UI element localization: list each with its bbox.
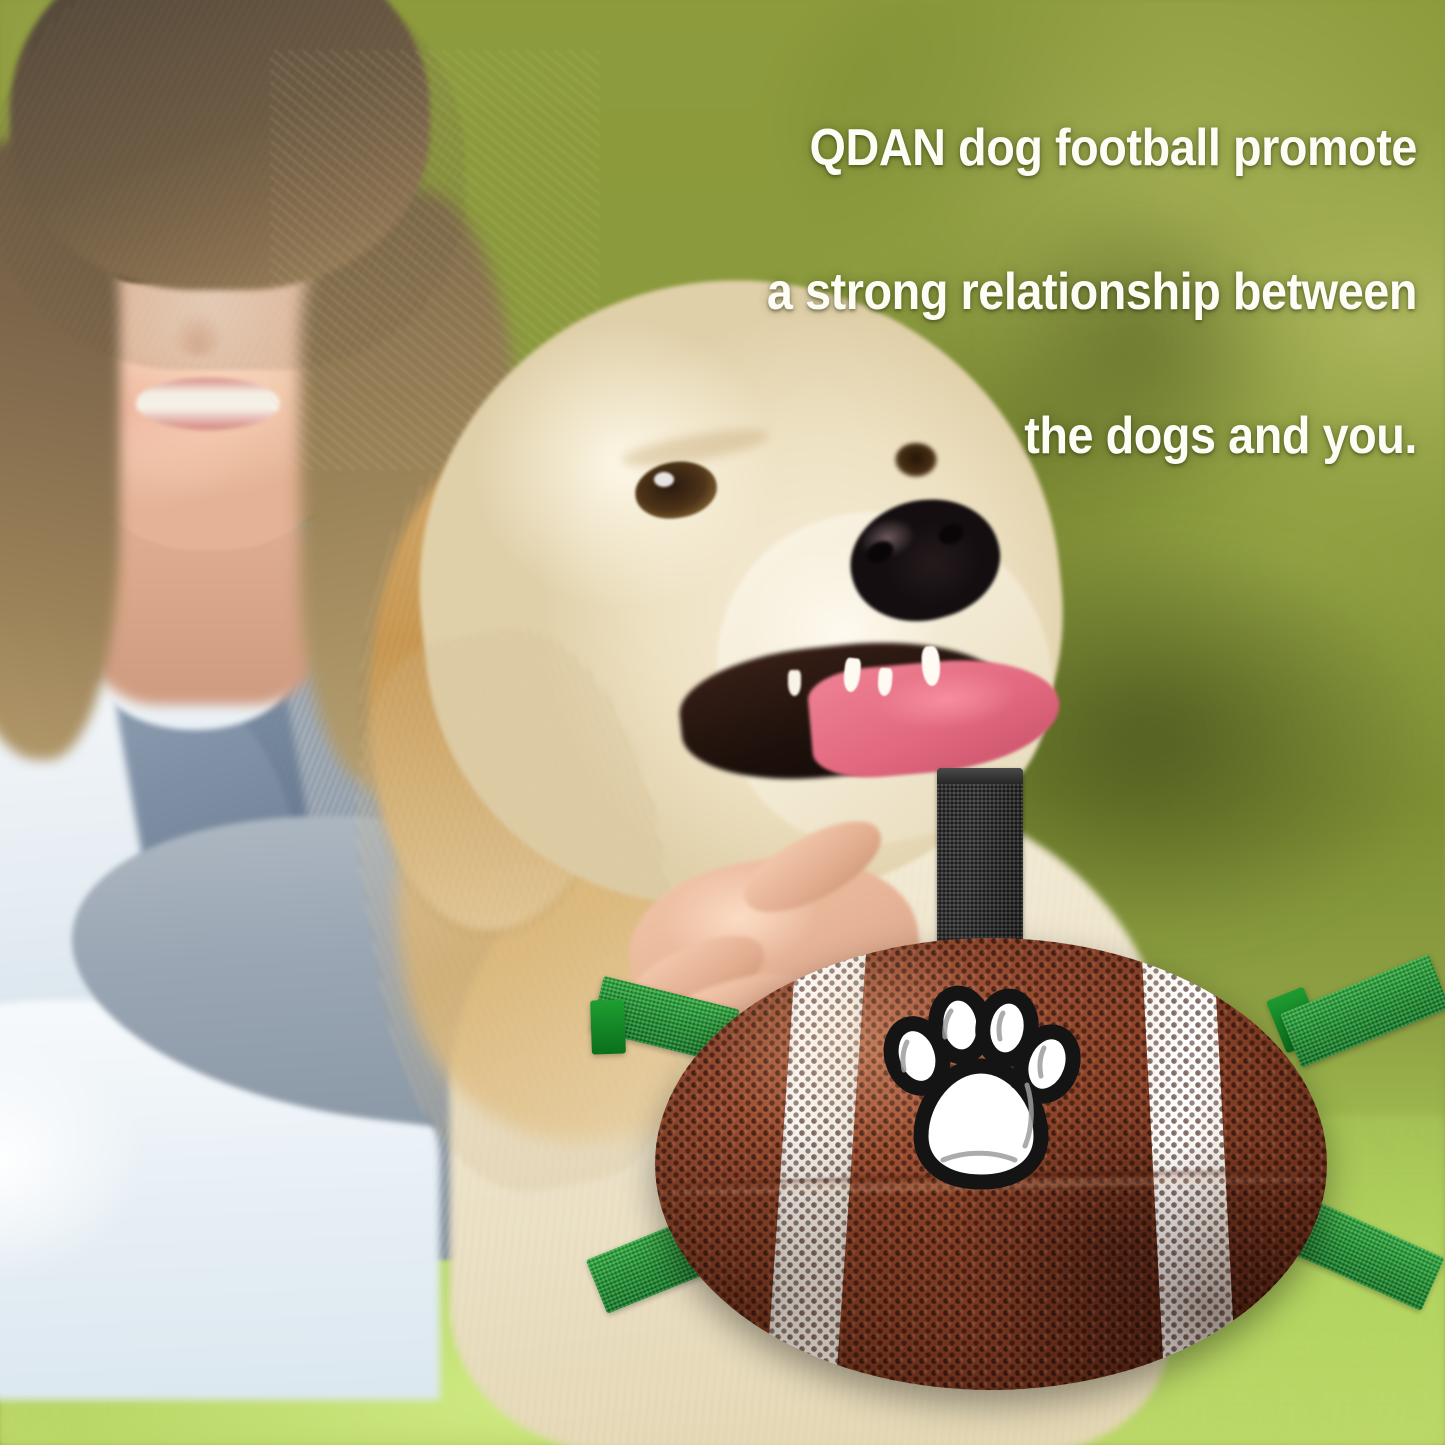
black-carry-tab-fold [937, 768, 1023, 784]
black-carry-tab [937, 768, 1023, 954]
dog-tooth [788, 670, 801, 696]
paw-print-icon [881, 984, 1081, 1200]
green-strap-top-left-fold [590, 999, 626, 1054]
headline-line-2: a strong relationship between [607, 256, 1417, 328]
dog-football-toy [585, 760, 1445, 1420]
headline-line-1: QDAN dog football promote [607, 112, 1417, 184]
headline-line-3: the dogs and you. [607, 400, 1417, 472]
product-image-canvas: QDAN dog football promote a strong relat… [0, 0, 1445, 1445]
headline-text: QDAN dog football promote a strong relat… [607, 40, 1417, 544]
